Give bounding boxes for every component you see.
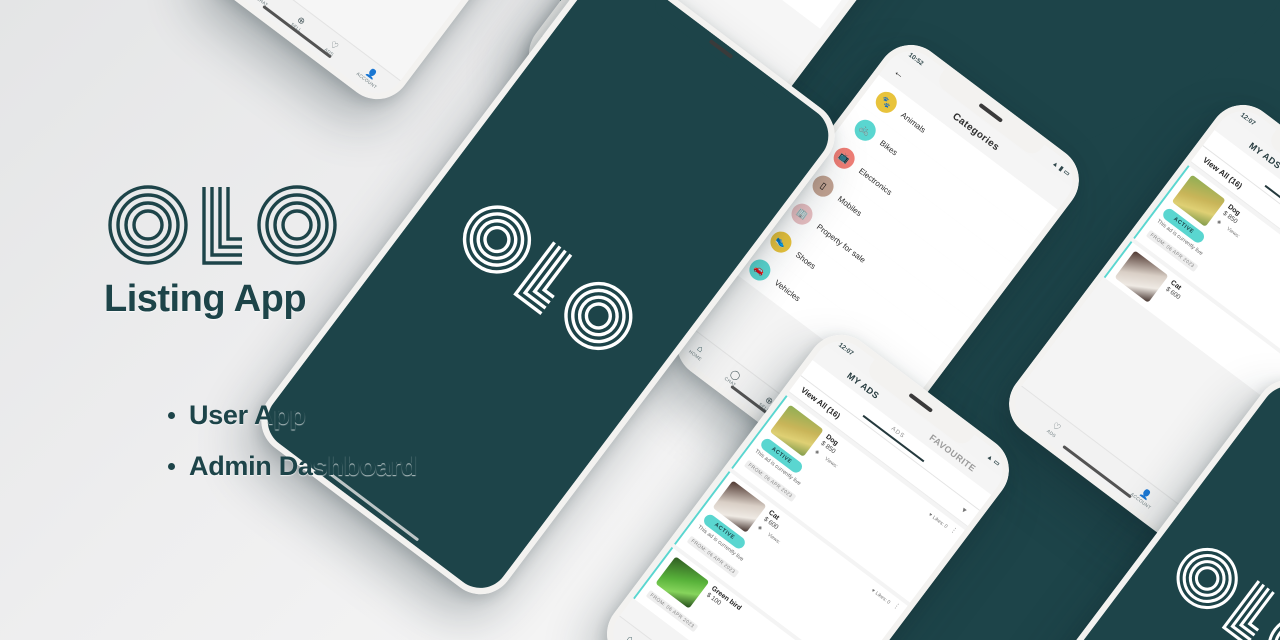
category-label: Electronics xyxy=(857,166,894,197)
arrow-left-icon[interactable]: ← xyxy=(891,66,907,82)
eye-icon: ◉ xyxy=(1215,219,1222,226)
nav-item-account[interactable]: 👤 ACCOUNT xyxy=(1130,484,1158,511)
list-item: Admin Dashboard xyxy=(168,451,417,482)
category-label: Vehicles xyxy=(773,278,802,303)
status-time: 12:07 xyxy=(837,341,854,357)
page-title: Listing App xyxy=(104,278,306,321)
list-item: User App xyxy=(168,400,417,431)
bike-icon: 🚲 xyxy=(850,116,879,145)
home-icon: ⌂ xyxy=(625,634,635,640)
category-label: Mobiles xyxy=(836,194,863,218)
category-label: Bikes xyxy=(878,138,899,157)
nav-item-home[interactable]: ⌂ HOME xyxy=(688,341,709,362)
status-time: 12:07 xyxy=(1239,111,1256,127)
olo-logo-svg xyxy=(108,180,338,270)
olo-logo-svg-white xyxy=(1162,532,1280,640)
battery-icon: ▭ xyxy=(992,458,1002,468)
category-label: Animals xyxy=(899,110,927,134)
battery-icon: ▭ xyxy=(1062,168,1072,178)
eye-icon: ◉ xyxy=(813,449,820,456)
nav-item-home[interactable]: ⌂ HOME xyxy=(618,631,639,640)
nav-item-ads[interactable]: ♡ ADS xyxy=(1046,420,1063,438)
tv-icon: 📺 xyxy=(829,144,858,173)
olo-logo xyxy=(108,180,338,270)
poster-canvas: Listing App User App Admin Dashboard ⌂ H… xyxy=(0,0,1280,640)
feature-list: User App Admin Dashboard xyxy=(168,400,417,502)
ad-price: $ 100 xyxy=(711,0,833,4)
category-label: Shoes xyxy=(794,250,818,271)
bullet-icon xyxy=(168,412,175,419)
status-time: 10:52 xyxy=(907,51,924,67)
bullet-icon xyxy=(168,463,175,470)
feature-label: User App xyxy=(189,400,306,431)
feature-label: Admin Dashboard xyxy=(189,451,417,482)
nav-item-chat[interactable]: ◯ CHAT xyxy=(724,368,744,388)
chevron-down-icon[interactable]: ▼ xyxy=(959,506,969,516)
phone-screen: 12:07 ▲ ▭ MY ADS FAVOURITE ADS View All … xyxy=(602,330,1014,640)
paw-icon: 🐾 xyxy=(872,88,901,117)
marketing-panel: Listing App User App Admin Dashboard xyxy=(0,0,560,640)
eye-icon: ◉ xyxy=(756,524,763,531)
